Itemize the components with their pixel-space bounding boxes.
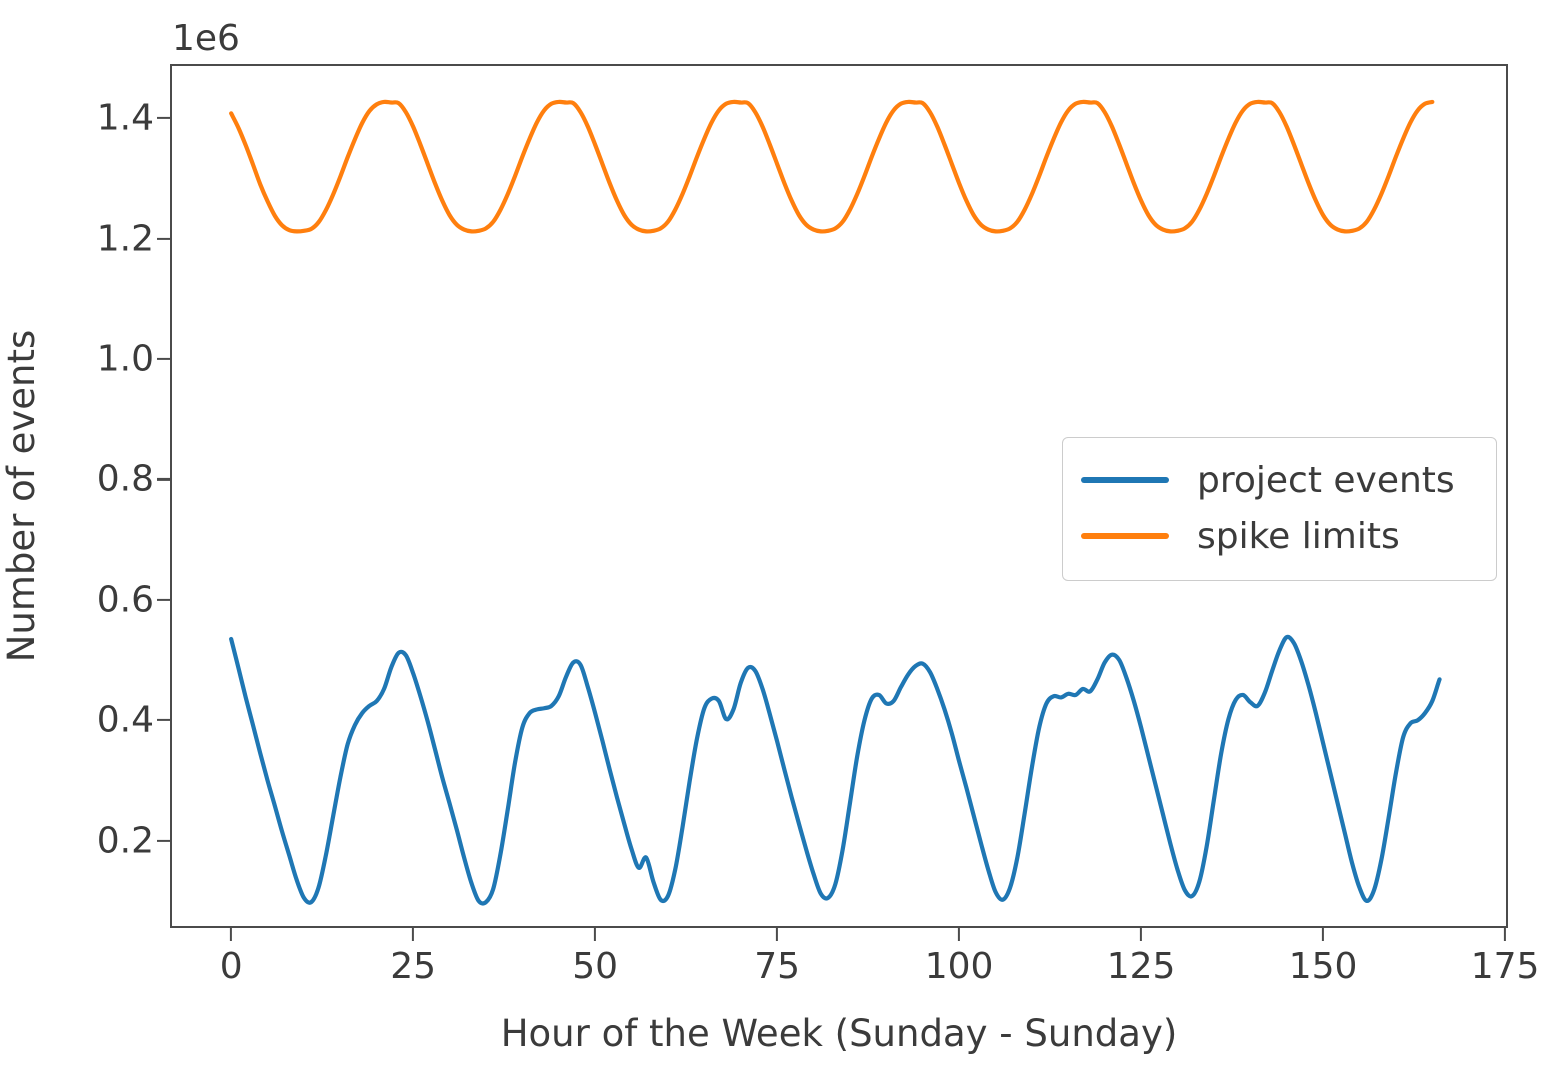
x-tick-label: 125 xyxy=(1107,946,1176,987)
series-line-project-events xyxy=(231,637,1439,904)
y-tick-mark xyxy=(157,719,170,721)
legend-item-project-events[interactable]: project events xyxy=(1081,452,1478,508)
legend-box[interactable]: project events spike limits xyxy=(1062,437,1497,581)
legend-label-project-events: project events xyxy=(1197,460,1455,501)
series-line-spike-limits xyxy=(231,102,1432,232)
y-tick-mark xyxy=(157,117,170,119)
x-tick-mark xyxy=(594,928,596,941)
y-axis-offset-label: 1e6 xyxy=(172,18,240,59)
y-tick-mark xyxy=(157,599,170,601)
x-tick-mark xyxy=(1322,928,1324,941)
y-tick-mark xyxy=(157,358,170,360)
x-tick-label: 75 xyxy=(754,946,800,987)
y-tick-mark xyxy=(157,238,170,240)
x-axis-title: Hour of the Week (Sunday - Sunday) xyxy=(170,1012,1508,1055)
y-tick-mark xyxy=(157,840,170,842)
y-tick-mark xyxy=(157,478,170,480)
x-tick-label: 50 xyxy=(572,946,618,987)
x-tick-mark xyxy=(412,928,414,941)
x-tick-mark xyxy=(776,928,778,941)
x-tick-mark xyxy=(230,928,232,941)
y-axis-title: Number of events xyxy=(0,330,43,662)
x-tick-label: 150 xyxy=(1289,946,1358,987)
legend-swatch-project-events xyxy=(1081,477,1169,483)
x-tick-label: 100 xyxy=(925,946,994,987)
x-tick-label: 175 xyxy=(1471,946,1540,987)
x-tick-mark xyxy=(1504,928,1506,941)
x-tick-mark xyxy=(1140,928,1142,941)
x-tick-label: 0 xyxy=(220,946,243,987)
x-tick-label: 25 xyxy=(390,946,436,987)
legend-swatch-spike-limits xyxy=(1081,533,1169,539)
legend-item-spike-limits[interactable]: spike limits xyxy=(1081,508,1478,564)
legend-label-spike-limits: spike limits xyxy=(1197,516,1400,557)
figure-canvas: 1e6 0.20.40.60.81.01.21.4 02550751001251… xyxy=(0,0,1564,1080)
x-tick-mark xyxy=(958,928,960,941)
